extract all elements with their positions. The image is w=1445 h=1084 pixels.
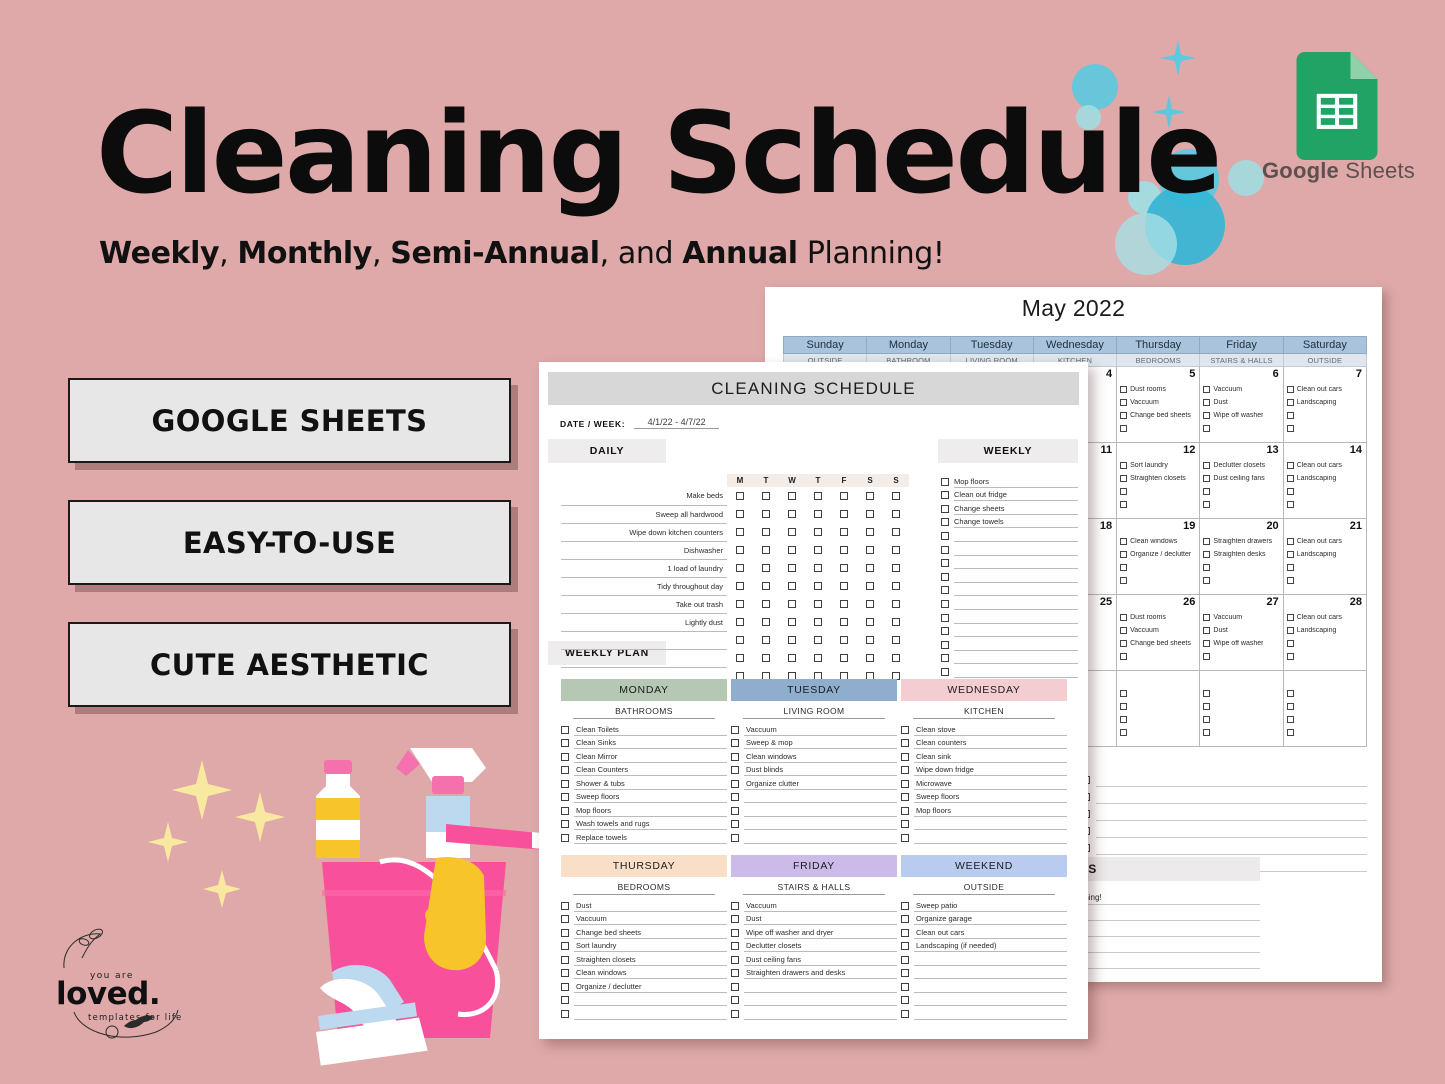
checkbox[interactable] [1120,716,1127,723]
daily-checkbox-cell[interactable] [805,649,831,667]
checkbox[interactable] [1120,488,1127,495]
checkbox[interactable] [762,582,770,590]
checkbox[interactable] [1203,412,1210,419]
checkbox[interactable] [762,528,770,536]
daily-checkbox-cell[interactable] [779,577,805,595]
daily-checkbox-cell[interactable] [883,487,909,505]
checkbox[interactable] [840,564,848,572]
checkbox[interactable] [814,618,822,626]
checkbox[interactable] [561,807,569,815]
checkbox[interactable] [762,510,770,518]
checkbox[interactable] [1203,425,1210,432]
calendar-day-cell[interactable]: 26Dust roomsVaccuumChange bed sheets [1117,595,1200,671]
calendar-day-cell[interactable] [1200,671,1283,747]
daily-checkbox-cell[interactable] [779,505,805,523]
daily-checkbox-cell[interactable] [753,649,779,667]
checkbox[interactable] [814,510,822,518]
checkbox[interactable] [892,636,900,644]
checkbox[interactable] [1287,399,1294,406]
checkbox[interactable] [901,834,909,842]
checkbox[interactable] [561,942,569,950]
daily-checkbox-cell[interactable] [883,649,909,667]
checkbox[interactable] [561,766,569,774]
checkbox[interactable] [814,564,822,572]
calendar-day-cell[interactable]: 14Clean out carsLandscaping [1283,443,1366,519]
checkbox[interactable] [1287,501,1294,508]
daily-checkbox-cell[interactable] [805,487,831,505]
daily-checkbox-cell[interactable] [857,541,883,559]
checkbox[interactable] [840,510,848,518]
daily-checkbox-cell[interactable] [805,541,831,559]
checkbox[interactable] [731,726,739,734]
checkbox[interactable] [1120,551,1127,558]
checkbox[interactable] [941,491,949,499]
checkbox[interactable] [736,510,744,518]
daily-checkbox-cell[interactable] [831,559,857,577]
checkbox[interactable] [1203,577,1210,584]
checkbox[interactable] [901,739,909,747]
date-week-field[interactable]: DATE / WEEK: 4/1/22 - 4/7/22 [560,417,719,429]
calendar-day-cell[interactable] [1283,671,1366,747]
checkbox[interactable] [892,492,900,500]
checkbox[interactable] [731,902,739,910]
checkbox[interactable] [941,600,949,608]
checkbox[interactable] [1203,729,1210,736]
daily-checkbox-cell[interactable] [883,631,909,649]
checkbox[interactable] [892,510,900,518]
daily-checkbox-cell[interactable] [831,649,857,667]
checkbox[interactable] [1120,640,1127,647]
checkbox[interactable] [731,956,739,964]
checkbox[interactable] [1203,640,1210,647]
checkbox[interactable] [866,618,874,626]
checkbox[interactable] [866,582,874,590]
checkbox[interactable] [1203,627,1210,634]
checkbox[interactable] [814,492,822,500]
checkbox[interactable] [561,1010,569,1018]
calendar-day-cell[interactable]: 28Clean out carsLandscaping [1283,595,1366,671]
checkbox[interactable] [561,929,569,937]
checkbox[interactable] [901,915,909,923]
checkbox[interactable] [731,780,739,788]
daily-checkbox-cell[interactable] [857,595,883,613]
daily-checkbox-cell[interactable] [753,523,779,541]
checkbox[interactable] [561,793,569,801]
checkbox[interactable] [1203,551,1210,558]
daily-checkbox-cell[interactable] [857,487,883,505]
checkbox[interactable] [941,518,949,526]
daily-checkbox-cell[interactable] [779,649,805,667]
checkbox[interactable] [1120,425,1127,432]
checkbox[interactable] [814,654,822,662]
checkbox[interactable] [1120,614,1127,621]
checkbox[interactable] [788,492,796,500]
daily-checkbox-cell[interactable] [753,487,779,505]
checkbox[interactable] [731,753,739,761]
checkbox[interactable] [1287,425,1294,432]
checkbox[interactable] [1203,538,1210,545]
checkbox[interactable] [892,654,900,662]
daily-checkbox-cell[interactable] [753,631,779,649]
daily-checkbox-cell[interactable] [883,577,909,595]
checkbox[interactable] [901,726,909,734]
checkbox[interactable] [731,929,739,937]
checkbox[interactable] [901,753,909,761]
checkbox[interactable] [561,753,569,761]
calendar-day-cell[interactable] [1117,671,1200,747]
daily-checkbox-cell[interactable] [831,523,857,541]
daily-checkbox-cell[interactable] [779,631,805,649]
checkbox[interactable] [1287,627,1294,634]
checkbox[interactable] [866,636,874,644]
daily-checkbox-cell[interactable] [857,613,883,631]
calendar-day-cell[interactable]: 13Declutter closetsDust ceiling fans [1200,443,1283,519]
checkbox[interactable] [901,793,909,801]
checkbox[interactable] [788,510,796,518]
checkbox[interactable] [731,807,739,815]
checkbox[interactable] [901,780,909,788]
checkbox[interactable] [941,559,949,567]
checkbox[interactable] [731,996,739,1004]
daily-checkbox-cell[interactable] [727,577,753,595]
checkbox[interactable] [866,600,874,608]
checkbox[interactable] [840,636,848,644]
daily-checkbox-cell[interactable] [727,649,753,667]
checkbox[interactable] [1287,475,1294,482]
checkbox[interactable] [1203,399,1210,406]
daily-task-label[interactable]: Lightly dust [561,613,727,631]
daily-task-label[interactable]: 1 load of laundry [561,559,727,577]
checkbox[interactable] [561,983,569,991]
checkbox[interactable] [892,582,900,590]
checkbox[interactable] [788,528,796,536]
daily-checkbox-cell[interactable] [883,559,909,577]
checkbox[interactable] [1120,538,1127,545]
checkbox[interactable] [941,573,949,581]
checkbox[interactable] [840,492,848,500]
checkbox[interactable] [1203,653,1210,660]
daily-checkbox-cell[interactable] [727,487,753,505]
checkbox[interactable] [866,546,874,554]
checkbox[interactable] [1203,386,1210,393]
calendar-day-cell[interactable]: 21Clean out carsLandscaping [1283,519,1366,595]
checkbox[interactable] [941,627,949,635]
daily-checkbox-cell[interactable] [857,631,883,649]
daily-task-label[interactable] [561,631,727,649]
checkbox[interactable] [1287,538,1294,545]
checkbox[interactable] [840,528,848,536]
checkbox[interactable] [561,820,569,828]
daily-checkbox-cell[interactable] [779,523,805,541]
checkbox[interactable] [901,807,909,815]
checkbox[interactable] [561,956,569,964]
daily-checkbox-cell[interactable] [779,595,805,613]
checkbox[interactable] [762,546,770,554]
checkbox[interactable] [892,618,900,626]
checkbox[interactable] [731,942,739,950]
checkbox[interactable] [814,600,822,608]
checkbox[interactable] [1203,488,1210,495]
daily-task-label[interactable]: Tidy throughout day [561,577,727,595]
checkbox[interactable] [788,636,796,644]
checkbox[interactable] [1287,462,1294,469]
checkbox[interactable] [731,1010,739,1018]
checkbox[interactable] [814,636,822,644]
checkbox[interactable] [1120,386,1127,393]
daily-checkbox-cell[interactable] [857,649,883,667]
checkbox[interactable] [1120,462,1127,469]
checkbox[interactable] [941,478,949,486]
checkbox[interactable] [840,582,848,590]
checkbox[interactable] [901,956,909,964]
calendar-day-cell[interactable]: 6VaccuumDustWipe off washer [1200,367,1283,443]
daily-task-label[interactable]: Make beds [561,487,727,505]
checkbox[interactable] [814,582,822,590]
daily-checkbox-cell[interactable] [883,523,909,541]
checkbox[interactable] [941,586,949,594]
daily-checkbox-cell[interactable] [753,595,779,613]
daily-checkbox-cell[interactable] [831,631,857,649]
checkbox[interactable] [736,546,744,554]
checkbox[interactable] [762,654,770,662]
checkbox[interactable] [840,546,848,554]
daily-checkbox-cell[interactable] [831,613,857,631]
checkbox[interactable] [1203,716,1210,723]
checkbox[interactable] [561,834,569,842]
calendar-day-cell[interactable]: 20Straighten drawersStraighten desks [1200,519,1283,595]
checkbox[interactable] [736,492,744,500]
checkbox[interactable] [901,766,909,774]
checkbox[interactable] [1120,412,1127,419]
checkbox[interactable] [941,546,949,554]
checkbox[interactable] [788,564,796,572]
calendar-task-row [1287,498,1363,511]
checkbox[interactable] [941,654,949,662]
checkbox[interactable] [736,564,744,572]
checkbox[interactable] [941,505,949,513]
checkbox[interactable] [1287,488,1294,495]
checkbox[interactable] [892,564,900,572]
checkbox[interactable] [731,793,739,801]
checkbox[interactable] [1203,703,1210,710]
daily-checkbox-cell[interactable] [779,559,805,577]
checkbox[interactable] [731,739,739,747]
checkbox[interactable] [731,820,739,828]
checkbox[interactable] [762,636,770,644]
checkbox[interactable] [731,983,739,991]
daily-checkbox-cell[interactable] [805,505,831,523]
checkbox[interactable] [762,618,770,626]
calendar-day-cell[interactable]: 12Sort laundryStraighten closets [1117,443,1200,519]
checkbox[interactable] [840,654,848,662]
checkbox[interactable] [1287,412,1294,419]
daily-checkbox-cell[interactable] [857,559,883,577]
daily-checkbox-cell[interactable] [805,523,831,541]
daily-checkbox-cell[interactable] [727,631,753,649]
checkbox[interactable] [941,641,949,649]
checkbox[interactable] [840,600,848,608]
checkbox[interactable] [1203,462,1210,469]
checkbox[interactable] [1203,690,1210,697]
daily-checkbox-cell[interactable] [831,577,857,595]
checkbox[interactable] [561,996,569,1004]
checkbox[interactable] [1287,690,1294,697]
daily-checkbox-cell[interactable] [753,577,779,595]
daily-checkbox-cell[interactable] [883,595,909,613]
daily-checkbox-cell[interactable] [831,487,857,505]
daily-task-label[interactable]: Wipe down kitchen counters [561,523,727,541]
daily-checkbox-cell[interactable] [805,613,831,631]
daily-checkbox-cell[interactable] [727,541,753,559]
daily-checkbox-cell[interactable] [779,487,805,505]
checkbox[interactable] [1287,614,1294,621]
daily-checkbox-cell[interactable] [831,541,857,559]
checkbox[interactable] [1203,564,1210,571]
checkbox[interactable] [814,546,822,554]
daily-checkbox-cell[interactable] [753,541,779,559]
checkbox[interactable] [892,600,900,608]
checkbox[interactable] [901,983,909,991]
checkbox[interactable] [736,654,744,662]
checkbox[interactable] [788,618,796,626]
daily-checkbox-cell[interactable] [727,613,753,631]
checkbox[interactable] [731,766,739,774]
checkbox[interactable] [1120,564,1127,571]
checkbox[interactable] [814,528,822,536]
checkbox[interactable] [866,528,874,536]
checkbox[interactable] [1203,475,1210,482]
checkbox[interactable] [892,528,900,536]
calendar-day-cell[interactable]: 7Clean out carsLandscaping [1283,367,1366,443]
checkbox[interactable] [762,564,770,572]
calendar-day-cell[interactable]: 27VaccuumDustWipe off washer [1200,595,1283,671]
checkbox[interactable] [1287,577,1294,584]
checkbox[interactable] [866,564,874,572]
checkbox[interactable] [1120,729,1127,736]
checkbox[interactable] [736,636,744,644]
checkbox[interactable] [762,492,770,500]
daily-checkbox-cell[interactable] [831,505,857,523]
daily-checkbox-cell[interactable] [857,577,883,595]
calendar-day-cell[interactable]: 19Clean windowsOrganize / declutter [1117,519,1200,595]
checkbox[interactable] [561,739,569,747]
checkbox[interactable] [901,942,909,950]
daily-checkbox-cell[interactable] [883,613,909,631]
checkbox[interactable] [561,915,569,923]
feature-badge-cute-aesthetic[interactable]: CUTE AESTHETIC [68,622,511,707]
checkbox[interactable] [866,492,874,500]
checkbox[interactable] [1120,475,1127,482]
checkbox[interactable] [1287,551,1294,558]
daily-task-label[interactable]: Take out trash [561,595,727,613]
checkbox[interactable] [1120,703,1127,710]
daily-checkbox-cell[interactable] [779,541,805,559]
checkbox[interactable] [1287,653,1294,660]
checkbox[interactable] [1203,614,1210,621]
feature-badge-easy-to-use[interactable]: EASY-TO-USE [68,500,511,585]
daily-checkbox-cell[interactable] [805,631,831,649]
checkbox[interactable] [788,600,796,608]
checkbox[interactable] [762,600,770,608]
daily-checkbox-cell[interactable] [857,505,883,523]
daily-checkbox-cell[interactable] [805,559,831,577]
checkbox[interactable] [1120,627,1127,634]
checkbox[interactable] [1287,564,1294,571]
checkbox[interactable] [731,969,739,977]
checkbox[interactable] [1203,501,1210,508]
checkbox[interactable] [892,546,900,554]
daily-task-label[interactable] [561,649,727,667]
feature-badge-google-sheets[interactable]: GOOGLE SHEETS [68,378,511,463]
checkbox[interactable] [1120,399,1127,406]
checkbox[interactable] [788,546,796,554]
checkbox[interactable] [736,600,744,608]
checkbox[interactable] [1287,729,1294,736]
checkbox[interactable] [866,510,874,518]
checkbox[interactable] [736,528,744,536]
checkbox[interactable] [941,532,949,540]
checkbox[interactable] [788,654,796,662]
checkbox[interactable] [1287,703,1294,710]
checkbox[interactable] [736,618,744,626]
checkbox[interactable] [731,915,739,923]
daily-checkbox-cell[interactable] [727,523,753,541]
checkbox[interactable] [561,726,569,734]
checkbox[interactable] [1287,716,1294,723]
checkbox[interactable] [901,902,909,910]
daily-checkbox-cell[interactable] [779,613,805,631]
checkbox[interactable] [1120,501,1127,508]
checkbox[interactable] [901,1010,909,1018]
daily-checkbox-cell[interactable] [753,559,779,577]
daily-checkbox-cell[interactable] [727,595,753,613]
checkbox[interactable] [901,820,909,828]
checkbox[interactable] [788,582,796,590]
checkbox[interactable] [840,618,848,626]
checkbox[interactable] [561,780,569,788]
daily-task-label[interactable]: Sweep all hardwood [561,505,727,523]
checkbox[interactable] [941,668,949,676]
date-week-value[interactable]: 4/1/22 - 4/7/22 [634,417,719,429]
daily-checkbox-cell[interactable] [883,505,909,523]
daily-task-label[interactable]: Dishwasher [561,541,727,559]
checkbox[interactable] [1120,577,1127,584]
checkbox[interactable] [1120,653,1127,660]
checkbox[interactable] [866,654,874,662]
daily-checkbox-cell[interactable] [805,577,831,595]
daily-checkbox-cell[interactable] [753,613,779,631]
calendar-day-cell[interactable]: 5Dust roomsVaccuumChange bed sheets [1117,367,1200,443]
daily-checkbox-cell[interactable] [753,505,779,523]
checkbox[interactable] [901,929,909,937]
daily-checkbox-cell[interactable] [883,541,909,559]
checkbox[interactable] [1287,640,1294,647]
checkbox[interactable] [1120,690,1127,697]
checkbox[interactable] [901,996,909,1004]
daily-checkbox-cell[interactable] [831,595,857,613]
checkbox[interactable] [901,969,909,977]
checkbox[interactable] [561,902,569,910]
daily-checkbox-cell[interactable] [857,523,883,541]
daily-checkbox-cell[interactable] [727,559,753,577]
daily-checkbox-cell[interactable] [805,595,831,613]
checkbox[interactable] [1287,386,1294,393]
checkbox[interactable] [731,834,739,842]
checkbox[interactable] [736,582,744,590]
checkbox[interactable] [941,614,949,622]
checkbox[interactable] [561,969,569,977]
daily-checkbox-cell[interactable] [727,505,753,523]
